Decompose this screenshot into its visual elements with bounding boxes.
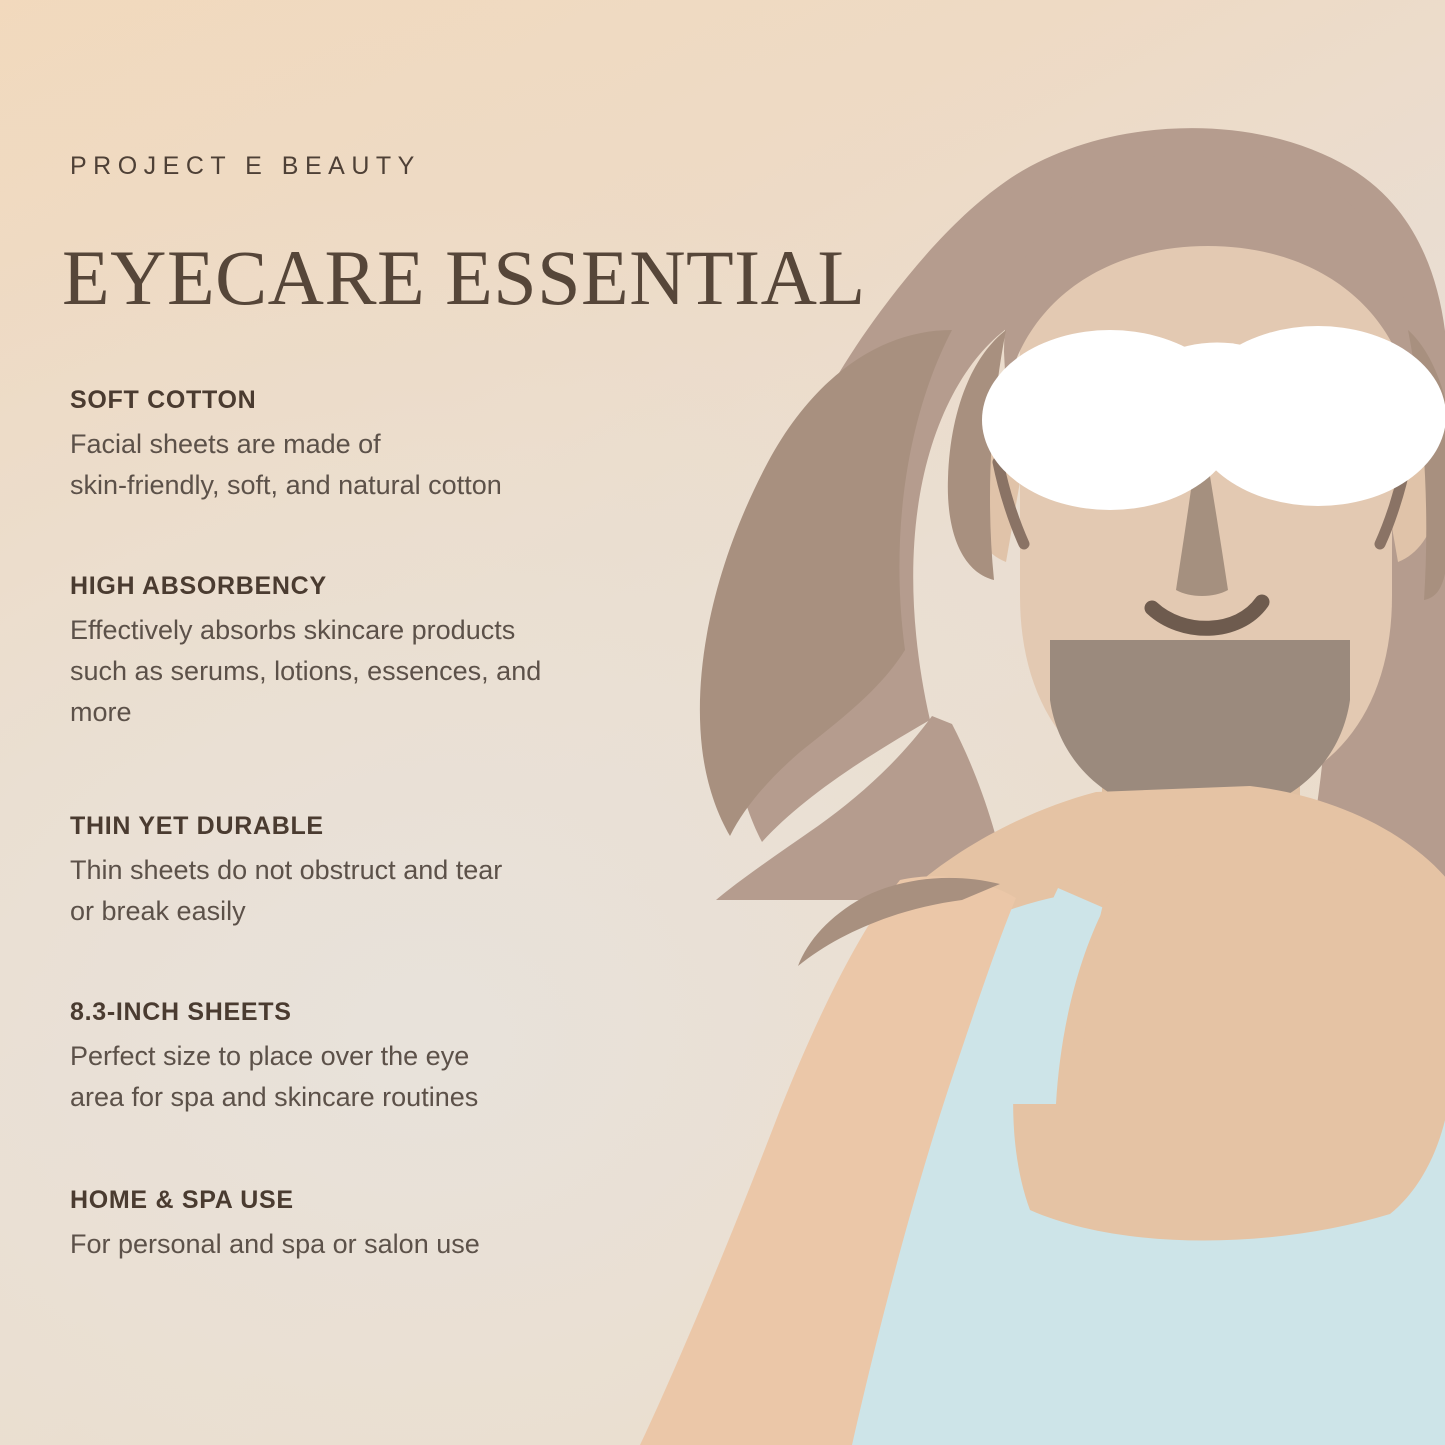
feature-high-absorbency: HIGH ABSORBENCY Effectively absorbs skin…: [70, 572, 670, 733]
feature-line: For personal and spa or salon use: [70, 1224, 670, 1265]
infographic-canvas: PROJECT E BEAUTY EYECARE ESSENTIAL SOFT …: [0, 0, 1445, 1445]
feature-body: For personal and spa or salon use: [70, 1224, 670, 1265]
feature-thin-yet-durable: THIN YET DURABLE Thin sheets do not obst…: [70, 812, 670, 932]
feature-body: Effectively absorbs skincare products su…: [70, 610, 670, 733]
feature-line: such as serums, lotions, essences, and: [70, 651, 670, 692]
feature-heading: 8.3-INCH SHEETS: [70, 998, 670, 1027]
feature-body: Perfect size to place over the eye area …: [70, 1036, 670, 1118]
feature-line: Perfect size to place over the eye: [70, 1036, 670, 1077]
feature-heading: THIN YET DURABLE: [70, 812, 670, 841]
feature-body: Facial sheets are made of skin-friendly,…: [70, 424, 670, 506]
feature-sheet-size: 8.3-INCH SHEETS Perfect size to place ov…: [70, 998, 670, 1118]
page-title: EYECARE ESSENTIAL: [62, 237, 866, 319]
feature-soft-cotton: SOFT COTTON Facial sheets are made of sk…: [70, 386, 670, 506]
brand-name: PROJECT E BEAUTY: [70, 152, 421, 181]
feature-line: Thin sheets do not obstruct and tear: [70, 850, 670, 891]
feature-heading: SOFT COTTON: [70, 386, 670, 415]
feature-line: area for spa and skincare routines: [70, 1077, 670, 1118]
feature-line: Effectively absorbs skincare products: [70, 610, 670, 651]
feature-body: Thin sheets do not obstruct and tear or …: [70, 850, 670, 932]
feature-line: or break easily: [70, 891, 670, 932]
chest-curve: [1084, 848, 1440, 1186]
feature-heading: HIGH ABSORBENCY: [70, 572, 670, 601]
feature-line: skin-friendly, soft, and natural cotton: [70, 465, 670, 506]
feature-home-spa-use: HOME & SPA USE For personal and spa or s…: [70, 1186, 670, 1265]
feature-line: Facial sheets are made of: [70, 424, 670, 465]
feature-line: more: [70, 692, 670, 733]
feature-heading: HOME & SPA USE: [70, 1186, 670, 1215]
